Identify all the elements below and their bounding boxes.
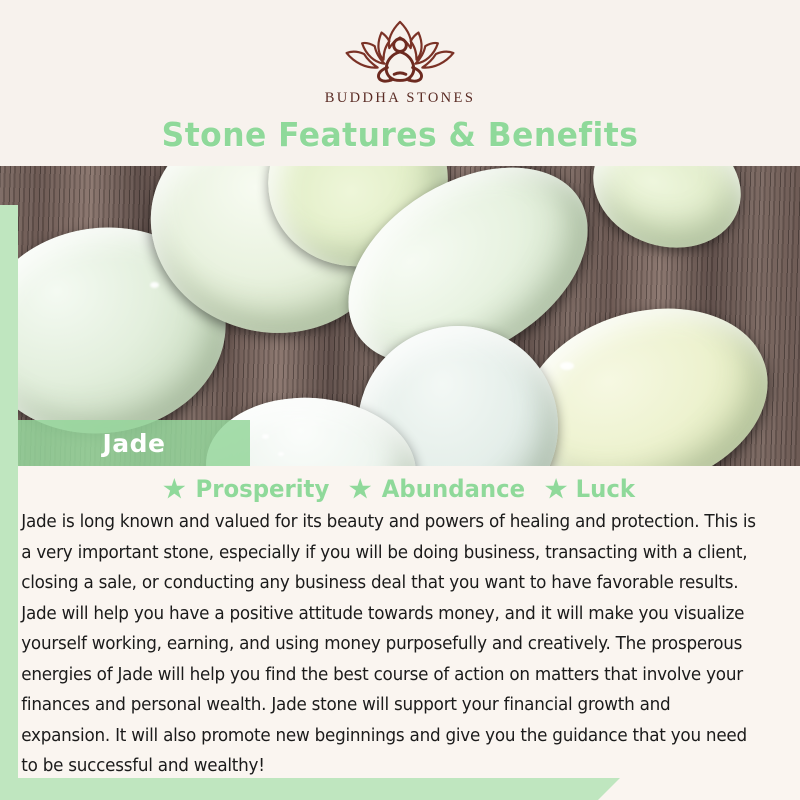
card-content: Prosperity Abundance Luck Jade is long k… <box>0 466 800 800</box>
stone-name-badge: Jade <box>18 420 250 466</box>
infographic-card: BUDDHA STONES Stone Features & Benefits … <box>0 0 800 800</box>
benefit-item: Abundance <box>349 475 529 503</box>
star-icon <box>163 478 185 500</box>
star-icon <box>545 478 567 500</box>
description-text: Jade is long known and valued for its be… <box>0 507 772 782</box>
lotus-meditation-logo-icon <box>325 18 475 86</box>
stone-photo: Jade <box>0 166 800 466</box>
decor-left-strip <box>0 205 18 782</box>
brand-name: BUDDHA STONES <box>325 90 476 107</box>
stone-name-label: Jade <box>102 429 165 458</box>
benefit-label: Prosperity <box>196 475 330 503</box>
page-title: Stone Features & Benefits <box>20 115 780 154</box>
benefits-row: Prosperity Abundance Luck <box>0 466 800 507</box>
stone-glint <box>278 452 284 456</box>
stone-glint <box>150 282 159 288</box>
brand-logo: BUDDHA STONES <box>0 0 800 107</box>
star-icon <box>349 478 371 500</box>
benefit-item: Luck <box>545 475 637 503</box>
stone-glint <box>262 434 269 439</box>
benefit-label: Abundance <box>382 475 525 503</box>
benefit-label: Luck <box>576 475 635 503</box>
benefit-item: Prosperity <box>163 475 333 503</box>
card-header: BUDDHA STONES Stone Features & Benefits <box>0 0 800 166</box>
decor-bottom-bar <box>0 778 620 800</box>
stone-glint <box>560 362 574 370</box>
